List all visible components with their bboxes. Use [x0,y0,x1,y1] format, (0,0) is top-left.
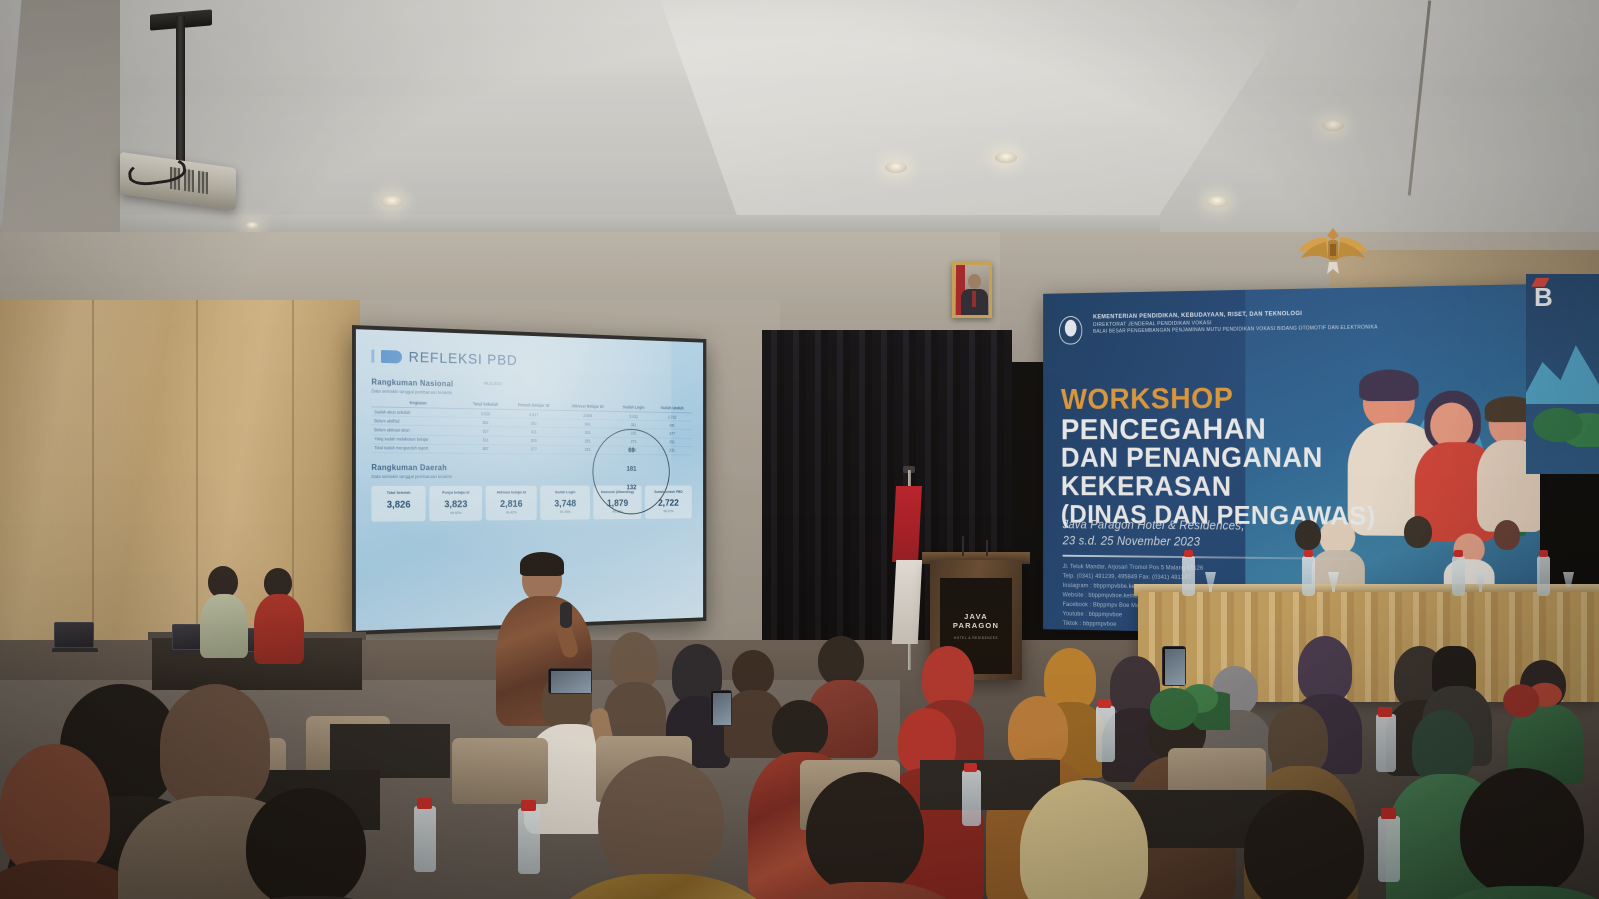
podium-logo-line-2: PARAGON [953,621,999,630]
garuda-emblem-icon [1296,222,1370,276]
downlight [245,222,259,229]
downlight [381,196,403,207]
banner-title: WORKSHOP PENCEGAHAN DAN PENANGANAN KEKER… [1061,381,1384,530]
podium-logo-line-1: JAVA [964,612,988,621]
glass-stem [1209,587,1212,592]
secondary-banner-foliage [1526,392,1599,447]
water-bottle [1452,556,1465,596]
tutwuri-logo-icon [1059,316,1082,345]
bottle-cap [1378,707,1392,717]
water-bottle [1302,556,1315,596]
conference-photo: REFLEKSI PBD Rangkuman Nasional Data sem… [0,0,1599,899]
bottle-cap [1098,699,1111,708]
bottle-cap [964,763,977,772]
banner-venue-block: Java Paragon Hotel & Residences, 23 s.d.… [1063,517,1245,551]
screen-hotspot-glare [356,329,671,603]
venue-line-2: 23 s.d. 25 November 2023 [1063,533,1245,551]
laptop-screen [54,622,94,648]
chair [452,738,548,804]
water-bottle [1182,556,1195,596]
secondary-banner: ▰ B [1526,274,1599,474]
water-bottle [1376,714,1396,772]
podium-logo-sub: HOTEL & RESIDENCES [940,636,1012,640]
bottle-cap [1381,808,1396,819]
banner-title-highlight: WORKSHOP [1061,381,1233,416]
bottle-cap [1539,550,1548,557]
venue-line-1: Java Paragon Hotel & Residences, [1063,517,1245,535]
glass-stem [1479,587,1482,592]
secondary-banner-text: B [1534,282,1554,313]
downlight [995,152,1017,163]
glass-stem [1332,587,1335,592]
microphone-icon [560,602,572,628]
podium-logo-text: JAVA PARAGON [940,612,1012,630]
bottle-cap [1304,550,1313,557]
indonesian-flag-white-band [892,560,922,644]
laptop-base [52,648,98,652]
bottle-cap [417,798,432,809]
podium-mic-stem [986,540,988,556]
downlight [1206,196,1228,207]
presidential-portrait [952,262,992,318]
downlight [885,162,907,173]
water-bottle [962,770,981,826]
bottle-cap [1454,550,1463,557]
water-bottle [414,806,436,872]
smartphone-recording [710,690,732,726]
decorative-flowers [1496,660,1566,720]
water-bottle [1096,706,1115,762]
bottle-cap [1184,550,1193,557]
podium-mic-stem [962,536,964,556]
water-bottle [518,808,540,874]
water-bottle [1378,816,1400,882]
banner-title-line-3: KEKERASAN [1061,473,1384,503]
bottle-cap [521,800,536,811]
banner-title-rest: PENCEGAHAN [1061,411,1266,445]
water-bottle [1537,556,1550,596]
smartphone-recording [548,668,592,694]
banner-title-line-2: DAN PENANGANAN [1061,444,1384,473]
projector-rod [176,16,185,166]
indonesian-flag-red-band [892,486,922,562]
downlight [1322,120,1344,131]
banner-title-line-1: WORKSHOP PENCEGAHAN [1061,381,1384,444]
decorative-plant [1150,660,1230,730]
